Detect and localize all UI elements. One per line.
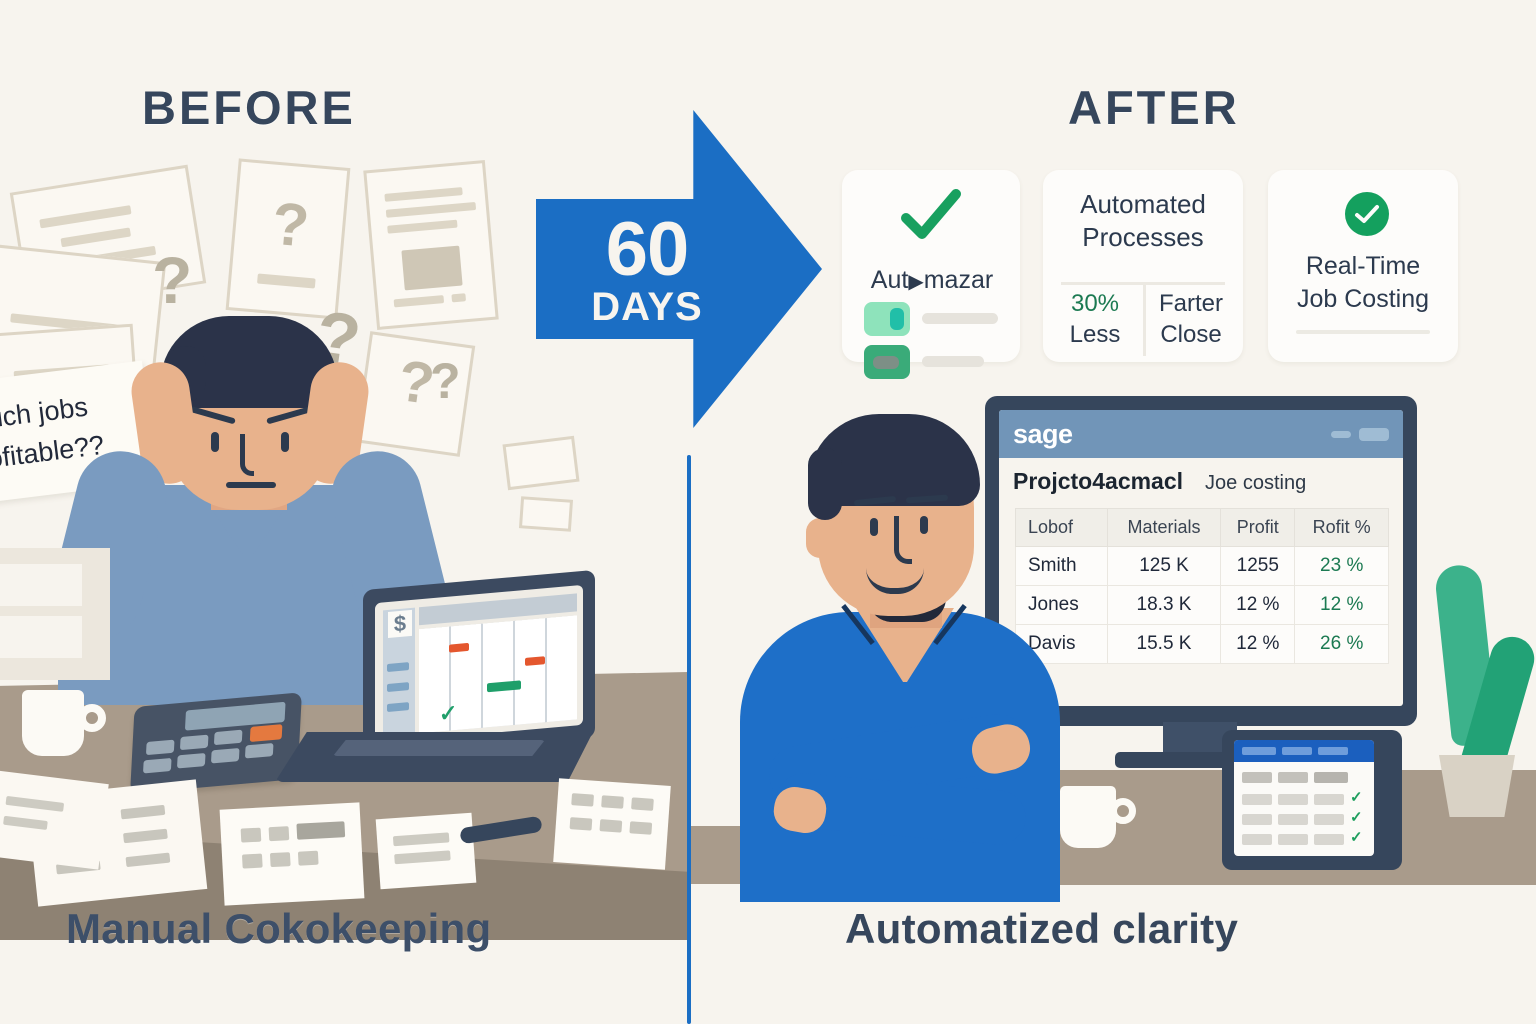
cell-materials: 15.5 K	[1107, 625, 1220, 664]
job-costing-table: Lobof Materials Profit Rofit % Smith 125…	[1015, 508, 1389, 664]
hair-side	[808, 448, 842, 520]
grid-cell	[1314, 772, 1348, 783]
divider	[1296, 330, 1430, 334]
module-label: Joe costing	[1205, 472, 1306, 495]
stat-close: Farter Close	[1151, 288, 1231, 350]
ear	[806, 518, 834, 558]
arrow-label: 60 DAYS	[552, 215, 742, 330]
before-label: BEFORE	[142, 80, 356, 135]
cell-profit-pct: 23 %	[1295, 547, 1389, 586]
column-header[interactable]: Rofit %	[1295, 509, 1389, 547]
stat-less: 30% Less	[1055, 288, 1135, 350]
paper-scrap	[502, 436, 579, 490]
play-icon: ▶	[908, 271, 923, 293]
table-row[interactable]: Jones 18.3 K 12 % 12 %	[1016, 586, 1389, 625]
card-title-line-1: Automated	[1053, 188, 1233, 221]
nose	[894, 516, 912, 564]
table-header-row: Lobof Materials Profit Rofit %	[1016, 509, 1389, 547]
card-title-line-2: Job Costing	[1276, 283, 1450, 316]
toggle-switch-on[interactable]	[864, 302, 910, 336]
stat-label: Less	[1055, 319, 1135, 350]
desk-paper	[0, 768, 109, 869]
before-caption: Manual Cokokeeping	[66, 905, 491, 953]
card-processes-title: Automated Processes	[1053, 188, 1233, 255]
column-header[interactable]: Profit	[1221, 509, 1295, 547]
tablet-screen: ✓ ✓ ✓	[1234, 740, 1374, 856]
grid-cell	[1278, 834, 1308, 845]
cell-materials: 18.3 K	[1107, 586, 1220, 625]
cabinet-silhouette	[0, 548, 110, 680]
nav-pill[interactable]	[1282, 747, 1312, 755]
after-caption: Automatized clarity	[845, 905, 1238, 953]
card-processes[interactable]: Automated Processes 30% Less Farter Clos…	[1043, 170, 1243, 362]
table-row[interactable]: Smith 125 K 1255 23 %	[1016, 547, 1389, 586]
card-automation[interactable]: Aut▶mazar	[842, 170, 1020, 362]
grid-cell	[1314, 794, 1344, 805]
divider	[1143, 282, 1146, 356]
eye-right	[281, 432, 289, 452]
minimize-icon[interactable]	[1331, 431, 1351, 438]
check-icon: ✓	[1350, 808, 1363, 826]
table-row[interactable]: Davis 15.5 K 12 % 26 %	[1016, 625, 1389, 664]
nav-pill[interactable]	[1242, 747, 1276, 755]
desk-paper	[376, 813, 477, 890]
laptop-icon: $ ✓	[275, 580, 595, 800]
check-circle-icon	[1345, 192, 1389, 236]
paper-scrap	[519, 496, 573, 532]
question-mark-icon: ?	[269, 189, 312, 261]
cell-profit-pct: 26 %	[1295, 625, 1389, 664]
check-icon: ✓	[439, 700, 457, 728]
coffee-mug-icon	[1060, 780, 1138, 852]
toggle-knob	[890, 308, 904, 330]
potted-plant-icon	[1425, 565, 1536, 825]
coffee-mug-icon	[22, 682, 108, 762]
after-label: AFTER	[1068, 80, 1240, 135]
transition-arrow: 60 DAYS	[536, 110, 822, 428]
toggle-switch-off[interactable]	[864, 345, 910, 379]
grid-cell	[1314, 834, 1344, 845]
eye-left	[211, 432, 219, 452]
arrow-number: 60	[552, 215, 742, 285]
paper-question-sheet: ?	[226, 158, 351, 319]
card-title-suffix: mazar	[924, 266, 993, 294]
app-header: Projcto4acmacl Joe costing	[1013, 468, 1391, 495]
desk-paper	[553, 778, 671, 870]
nose	[240, 434, 254, 476]
cell-profit: 12 %	[1221, 586, 1295, 625]
check-icon: ✓	[1350, 788, 1363, 806]
card-title-line-2: Processes	[1053, 221, 1233, 254]
infographic-canvas: ? ? ? ? ? hich jobs rofitable??	[0, 0, 1536, 1024]
check-icon: ✓	[1350, 828, 1363, 846]
card-title-prefix: Aut	[871, 266, 909, 294]
toggle-knob	[873, 356, 899, 369]
cell-materials: 125 K	[1107, 547, 1220, 586]
arrow-unit: DAYS	[552, 285, 742, 330]
placeholder-line	[922, 356, 984, 367]
cell-profit: 1255	[1221, 547, 1295, 586]
grid-cell	[1278, 772, 1308, 783]
cell-profit-pct: 12 %	[1295, 586, 1389, 625]
card-job-costing[interactable]: Real-Time Job Costing	[1268, 170, 1458, 362]
window-controls[interactable]	[1331, 428, 1389, 441]
dollar-icon: $	[388, 610, 412, 638]
grid-cell	[1314, 814, 1344, 825]
cell-profit: 12 %	[1221, 625, 1295, 664]
card-title-line-1: Real-Time	[1276, 250, 1450, 283]
eye-left	[870, 518, 878, 536]
eye-right	[920, 516, 928, 534]
mouth	[226, 482, 276, 488]
placeholder-line	[922, 313, 998, 324]
stat-value: 30%	[1055, 288, 1135, 319]
grid-cell	[1278, 814, 1308, 825]
tablet-nav-bar	[1234, 740, 1374, 762]
grid-cell	[1278, 794, 1308, 805]
desk-paper	[220, 802, 365, 905]
stat-label: Close	[1151, 319, 1231, 350]
grid-cell	[1242, 772, 1272, 783]
grid-cell	[1242, 834, 1272, 845]
nav-pill[interactable]	[1318, 747, 1348, 755]
confident-person-illustration	[760, 400, 1060, 900]
tablet-device: ✓ ✓ ✓	[1222, 730, 1402, 870]
card-automation-title: Aut▶mazar	[856, 266, 1008, 295]
stat-value: Farter	[1151, 288, 1231, 319]
column-header[interactable]: Materials	[1107, 509, 1220, 547]
grid-cell	[1242, 794, 1272, 805]
grid-cell	[1242, 814, 1272, 825]
card-job-costing-title: Real-Time Job Costing	[1276, 250, 1450, 315]
panel-divider	[687, 455, 691, 1024]
check-icon	[900, 188, 962, 244]
maximize-icon[interactable]	[1359, 428, 1389, 441]
